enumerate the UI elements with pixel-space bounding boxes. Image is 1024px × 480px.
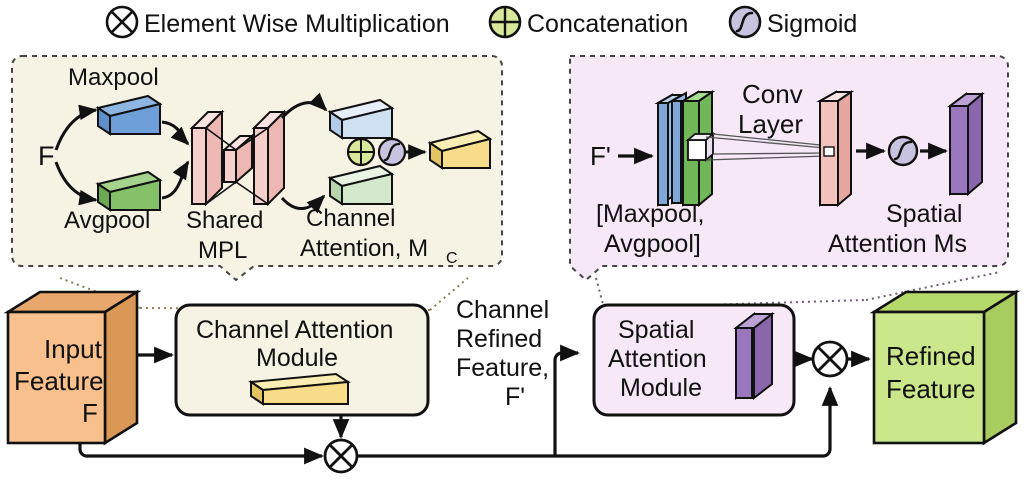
pooled-planes-label-line1: [Maxpool, [596, 200, 704, 228]
input-feature-line2: Feature [14, 366, 104, 396]
legend-item-sigmoid: Sigmoid [730, 7, 857, 38]
input-feature-line3: F [82, 398, 98, 428]
spatial-output-label-line2: Attention Ms [828, 230, 967, 258]
refined-feature-block: Refined Feature [874, 292, 1016, 443]
legend-label-concatenation: Concatenation [527, 10, 688, 38]
refined-feature-line1: Refined [886, 341, 976, 371]
legend-item-concatenation: Concatenation [490, 7, 688, 38]
channel-output-label-sub: C [446, 250, 458, 267]
mlp-label-line2: MPL [198, 237, 247, 264]
callout-spatial-left [596, 278, 604, 308]
avgpool-label: Avgpool [64, 207, 150, 234]
conv-layer-label-line2: Layer [738, 109, 803, 139]
circle-cross-icon [107, 7, 137, 37]
channel-output-label-line1: Channel [306, 205, 395, 232]
arrow-fprime-to-spatial-module [555, 353, 578, 456]
channel-refined-line1: Channel [456, 296, 549, 324]
channel-attention-module[interactable]: Channel Attention Module [176, 305, 428, 415]
circle-plus-icon [348, 139, 374, 165]
circle-plus-icon [490, 7, 520, 37]
channel-refined-feature-label: Channel Refined Feature, F' [456, 296, 549, 411]
spatial-output-label-line1: Spatial [886, 200, 962, 228]
sigmoid-icon [889, 137, 917, 165]
conv-layer-label-line1: Conv [742, 79, 803, 109]
spatial-attention-detail-panel: F' Conv Layer [570, 56, 1008, 280]
conv-output-plane [820, 92, 851, 205]
channel-refined-line3: Feature, [456, 354, 549, 382]
mlp-label-line1: Shared [186, 207, 263, 234]
spatial-module-slab-icon [736, 314, 772, 398]
channel-module-line1: Channel Attention [196, 316, 393, 344]
channel-attention-detail-panel: Maxpool F Avgpool [12, 56, 502, 280]
channel-refined-line2: Refined [456, 325, 542, 353]
spatial-attention-map-slab [950, 94, 982, 194]
legend-item-multiplication: Element Wise Multiplication [107, 7, 450, 38]
legend-label-sigmoid: Sigmoid [767, 10, 857, 38]
spatial-module-line1: Spatial [618, 316, 694, 344]
legend-label-multiplication: Element Wise Multiplication [144, 10, 450, 38]
sigmoid-icon [379, 139, 405, 165]
cbam-diagram: Element Wise Multiplication Concatenatio… [0, 0, 1024, 480]
refined-feature-line2: Feature [886, 374, 976, 404]
spatial-input-label: F' [590, 141, 611, 171]
input-feature-line1: Input [44, 334, 103, 364]
spatial-module-line2: Attention [608, 345, 707, 373]
residual-input-to-multiply1 [80, 443, 322, 456]
circle-cross-icon [813, 342, 847, 376]
circle-cross-icon [325, 440, 357, 472]
input-feature-block: Input Feature F [8, 292, 137, 443]
channel-output-label-line2: Attention, M [300, 235, 428, 262]
spatial-attention-module[interactable]: Spatial Attention Module [594, 305, 794, 415]
spatial-module-line3: Module [620, 374, 702, 402]
pooled-planes-label-line2: Avgpool] [604, 230, 701, 258]
channel-refined-line4: F' [505, 383, 525, 411]
pooled-feature-planes [658, 92, 713, 205]
channel-input-label: F [38, 141, 55, 171]
channel-module-line2: Module [256, 344, 338, 372]
sigmoid-icon [730, 7, 760, 37]
maxpool-label: Maxpool [68, 64, 159, 91]
legend: Element Wise Multiplication Concatenatio… [107, 7, 857, 38]
